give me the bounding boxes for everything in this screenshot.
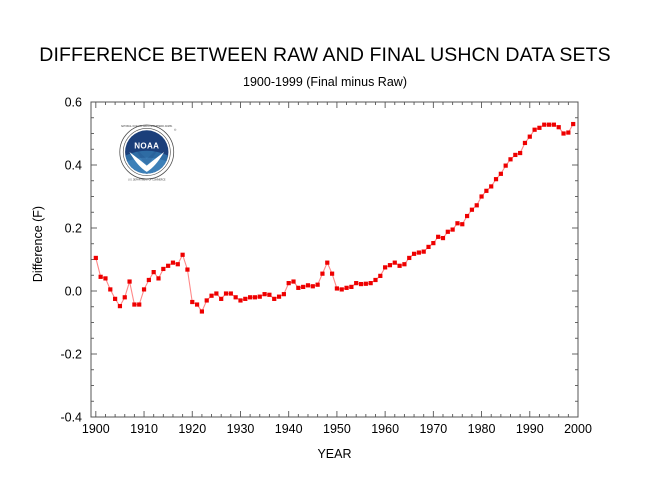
data-point bbox=[277, 295, 281, 299]
svg-text:0.6: 0.6 bbox=[65, 96, 82, 110]
data-point bbox=[243, 297, 247, 301]
data-point bbox=[272, 297, 276, 301]
data-point bbox=[330, 272, 334, 276]
data-point bbox=[205, 298, 209, 302]
svg-text:1960: 1960 bbox=[371, 422, 399, 436]
svg-text:1990: 1990 bbox=[516, 422, 544, 436]
svg-text:®: ® bbox=[174, 128, 177, 132]
data-point bbox=[537, 126, 541, 130]
svg-text:2000: 2000 bbox=[564, 422, 592, 436]
svg-text:U.S. DEPARTMENT OF COMMERCE: U.S. DEPARTMENT OF COMMERCE bbox=[128, 179, 166, 182]
data-point bbox=[422, 250, 426, 254]
plot-area: 1900191019201930194019501960197019801990… bbox=[0, 0, 650, 502]
data-point bbox=[378, 274, 382, 278]
data-point bbox=[262, 292, 266, 296]
data-point bbox=[446, 230, 450, 234]
data-point bbox=[132, 302, 136, 306]
data-point bbox=[344, 286, 348, 290]
data-point bbox=[200, 309, 204, 313]
data-point bbox=[282, 292, 286, 296]
data-point bbox=[209, 294, 213, 298]
svg-text:0.0: 0.0 bbox=[65, 285, 82, 299]
data-point bbox=[407, 256, 411, 260]
data-point bbox=[214, 291, 218, 295]
data-point bbox=[296, 286, 300, 290]
svg-text:1930: 1930 bbox=[227, 422, 255, 436]
data-point bbox=[325, 261, 329, 265]
data-point bbox=[552, 123, 556, 127]
data-point bbox=[542, 123, 546, 127]
data-point bbox=[267, 293, 271, 297]
data-point bbox=[547, 123, 551, 127]
data-point bbox=[489, 184, 493, 188]
data-point bbox=[123, 295, 127, 299]
data-point bbox=[311, 284, 315, 288]
data-point bbox=[426, 245, 430, 249]
data-point bbox=[349, 285, 353, 289]
data-point bbox=[508, 157, 512, 161]
data-point bbox=[494, 177, 498, 181]
svg-text:1910: 1910 bbox=[130, 422, 158, 436]
data-point bbox=[316, 283, 320, 287]
svg-text:0.2: 0.2 bbox=[65, 222, 82, 236]
data-point bbox=[393, 261, 397, 265]
data-point bbox=[99, 275, 103, 279]
data-point bbox=[566, 130, 570, 134]
data-point bbox=[359, 282, 363, 286]
data-point bbox=[513, 153, 517, 157]
data-point bbox=[195, 302, 199, 306]
data-point bbox=[118, 304, 122, 308]
data-point bbox=[369, 281, 373, 285]
data-point bbox=[479, 194, 483, 198]
data-point bbox=[224, 291, 228, 295]
data-point bbox=[248, 295, 252, 299]
svg-text:1970: 1970 bbox=[419, 422, 447, 436]
svg-text:1980: 1980 bbox=[468, 422, 496, 436]
data-point bbox=[475, 203, 479, 207]
data-point bbox=[364, 282, 368, 286]
data-point bbox=[441, 236, 445, 240]
data-point bbox=[103, 276, 107, 280]
svg-text:NOAA: NOAA bbox=[134, 141, 159, 150]
chart-figure: DIFFERENCE BETWEEN RAW AND FINAL USHCN D… bbox=[0, 0, 650, 502]
data-point bbox=[402, 262, 406, 266]
data-point bbox=[373, 278, 377, 282]
data-point bbox=[142, 287, 146, 291]
data-point bbox=[253, 295, 257, 299]
data-point bbox=[557, 125, 561, 129]
data-point bbox=[166, 264, 170, 268]
data-point bbox=[219, 297, 223, 301]
data-point bbox=[291, 279, 295, 283]
data-point bbox=[320, 272, 324, 276]
data-point bbox=[108, 287, 112, 291]
data-point bbox=[504, 164, 508, 168]
data-point bbox=[113, 297, 117, 301]
data-point bbox=[147, 278, 151, 282]
data-point bbox=[137, 302, 141, 306]
data-point bbox=[287, 281, 291, 285]
data-point bbox=[417, 250, 421, 254]
svg-text:0.4: 0.4 bbox=[65, 159, 82, 173]
data-point bbox=[431, 241, 435, 245]
data-point bbox=[190, 300, 194, 304]
data-point bbox=[523, 141, 527, 145]
data-point bbox=[470, 208, 474, 212]
data-point bbox=[335, 286, 339, 290]
data-point bbox=[229, 291, 233, 295]
data-point bbox=[518, 151, 522, 155]
data-point bbox=[499, 172, 503, 176]
data-point bbox=[528, 135, 532, 139]
data-point bbox=[258, 295, 262, 299]
data-point bbox=[238, 298, 242, 302]
data-point bbox=[156, 276, 160, 280]
data-point bbox=[94, 256, 98, 260]
data-point bbox=[460, 222, 464, 226]
data-point bbox=[465, 214, 469, 218]
data-point bbox=[340, 287, 344, 291]
data-point bbox=[176, 262, 180, 266]
data-point bbox=[161, 267, 165, 271]
data-point bbox=[301, 285, 305, 289]
svg-text:-0.4: -0.4 bbox=[60, 411, 82, 425]
data-point bbox=[185, 267, 189, 271]
data-point bbox=[533, 128, 537, 132]
data-point bbox=[436, 235, 440, 239]
data-point bbox=[571, 122, 575, 126]
svg-text:1940: 1940 bbox=[275, 422, 303, 436]
data-point bbox=[388, 263, 392, 267]
data-point bbox=[412, 252, 416, 256]
data-point bbox=[127, 279, 131, 283]
data-point bbox=[484, 189, 488, 193]
data-point bbox=[306, 283, 310, 287]
data-point bbox=[171, 261, 175, 265]
data-point bbox=[181, 253, 185, 257]
svg-text:NATIONAL OCEANIC AND ATMOSPHER: NATIONAL OCEANIC AND ATMOSPHERIC ADMIN. bbox=[121, 125, 173, 128]
data-point bbox=[383, 265, 387, 269]
data-point bbox=[451, 227, 455, 231]
svg-text:-0.2: -0.2 bbox=[60, 348, 82, 362]
data-point bbox=[561, 131, 565, 135]
noaa-logo-icon: NOAA NATIONAL OCEANIC AND ATMOSPHERIC AD… bbox=[117, 121, 179, 183]
svg-text:1920: 1920 bbox=[178, 422, 206, 436]
data-point bbox=[397, 264, 401, 268]
data-point bbox=[234, 295, 238, 299]
data-point bbox=[354, 281, 358, 285]
svg-text:1950: 1950 bbox=[323, 422, 351, 436]
svg-text:1900: 1900 bbox=[82, 422, 110, 436]
data-point bbox=[152, 270, 156, 274]
data-point bbox=[455, 221, 459, 225]
